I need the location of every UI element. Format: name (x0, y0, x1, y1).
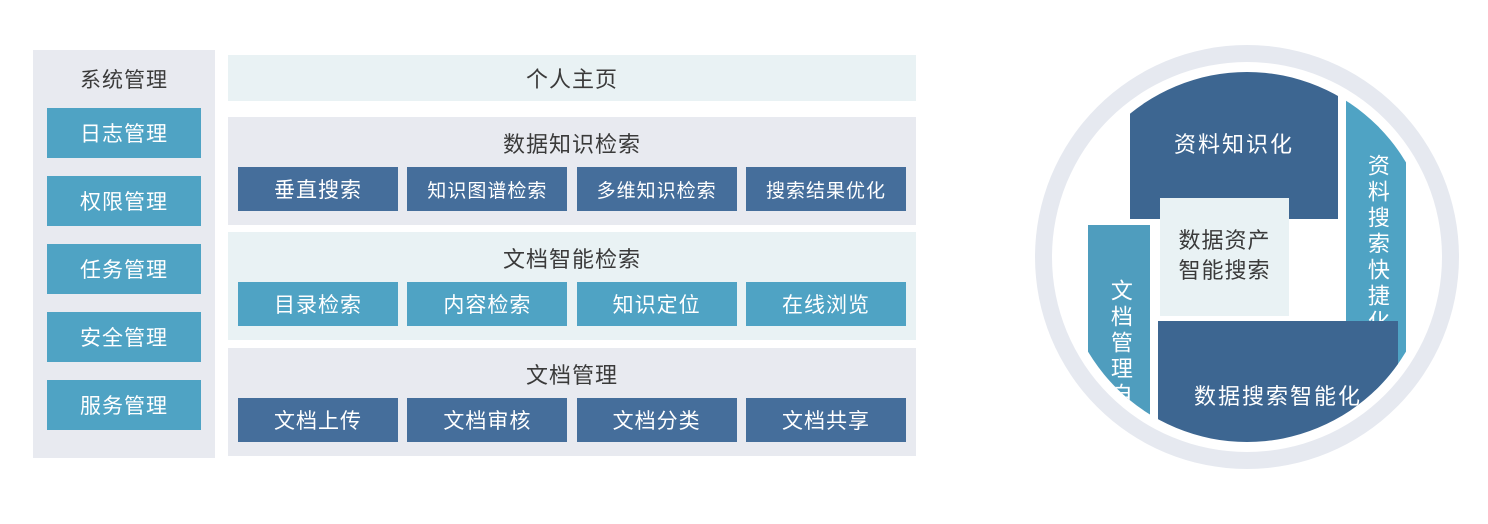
sidebar-item-security-management[interactable]: 安全管理 (47, 312, 201, 362)
system-management-sidebar: 系统管理 日志管理 权限管理 任务管理 安全管理 服务管理 (33, 50, 215, 458)
button-vertical-search[interactable]: 垂直搜索 (238, 167, 398, 211)
segment-document-management-auto[interactable]: 文档管理自动化 (1088, 225, 1150, 442)
sidebar-item-log-management[interactable]: 日志管理 (47, 108, 201, 158)
button-search-result-optimization[interactable]: 搜索结果优化 (746, 167, 906, 211)
sidebar-title: 系统管理 (33, 64, 215, 94)
button-document-upload[interactable]: 文档上传 (238, 398, 398, 442)
panel-title: 文档管理 (228, 348, 916, 398)
panel-button-row: 垂直搜索 知识图谱检索 多维知识检索 搜索结果优化 (228, 167, 916, 225)
panel-data-knowledge-search: 数据知识检索 垂直搜索 知识图谱检索 多维知识检索 搜索结果优化 (228, 117, 916, 225)
button-catalog-search[interactable]: 目录检索 (238, 282, 398, 326)
sidebar-item-task-management[interactable]: 任务管理 (47, 244, 201, 294)
center-label-line-1: 数据资产 (1178, 227, 1270, 257)
sidebar-item-service-management[interactable]: 服务管理 (47, 380, 201, 430)
panel-document-intelligent-search: 文档智能检索 目录检索 内容检索 知识定位 在线浏览 (228, 232, 916, 340)
personal-homepage-header[interactable]: 个人主页 (228, 55, 916, 101)
sidebar-item-permission-management[interactable]: 权限管理 (47, 176, 201, 226)
segment-data-search-intelligent[interactable]: 数据搜索智能化 (1158, 321, 1398, 442)
segment-material-knowledgeization[interactable]: 资料知识化 (1130, 72, 1338, 219)
panel-title: 数据知识检索 (228, 117, 916, 167)
button-knowledge-locate[interactable]: 知识定位 (577, 282, 737, 326)
button-content-search[interactable]: 内容检索 (407, 282, 567, 326)
button-document-review[interactable]: 文档审核 (407, 398, 567, 442)
center-label-line-2: 智能搜索 (1178, 257, 1270, 287)
panel-document-management: 文档管理 文档上传 文档审核 文档分类 文档共享 (228, 348, 916, 456)
button-document-classify[interactable]: 文档分类 (577, 398, 737, 442)
page-title: 个人主页 (526, 62, 618, 94)
panel-title: 文档智能检索 (228, 232, 916, 282)
panel-button-row: 文档上传 文档审核 文档分类 文档共享 (228, 398, 916, 456)
diagram-center-label: 数据资产 智能搜索 (1160, 198, 1289, 316)
button-online-browse[interactable]: 在线浏览 (746, 282, 906, 326)
panel-button-row: 目录检索 内容检索 知识定位 在线浏览 (228, 282, 916, 340)
button-document-share[interactable]: 文档共享 (746, 398, 906, 442)
button-knowledge-graph-search[interactable]: 知识图谱检索 (407, 167, 567, 211)
data-asset-search-circle-diagram: 资料知识化 资料搜索快捷化 文档管理自动化 数据搜索智能化 数据资产 智能搜索 (1035, 45, 1459, 469)
button-multidim-knowledge-search[interactable]: 多维知识检索 (577, 167, 737, 211)
